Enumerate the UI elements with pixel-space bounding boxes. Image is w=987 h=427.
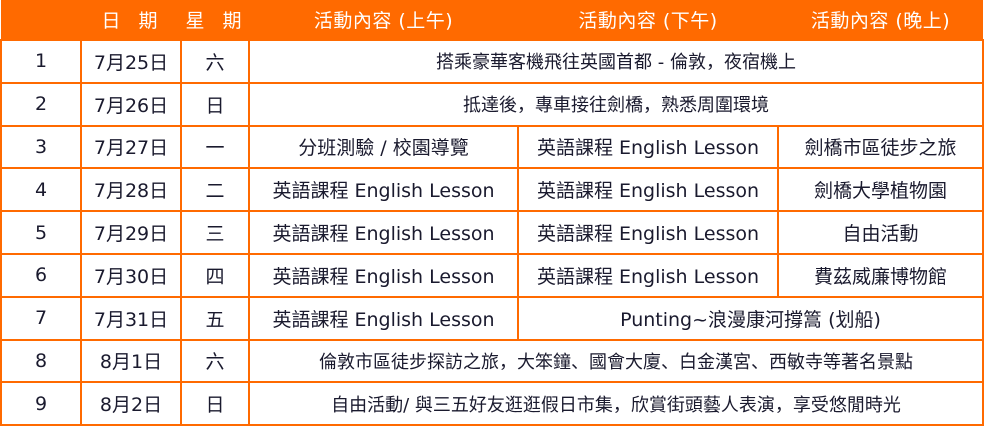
cell-activity-evening: 費茲威廉博物館: [778, 254, 983, 297]
column-header-evening: 活動內容 (晚上): [778, 0, 983, 40]
cell-row-number: 1: [1, 40, 81, 83]
cell-activity-full-day: 倫敦市區徒步探訪之旅，大笨鐘、國會大廈、白金漢宮、西敏寺等著名景點: [249, 340, 983, 383]
cell-activity-morning: 英語課程 English Lesson: [249, 168, 518, 211]
cell-weekday: 六: [181, 40, 249, 83]
cell-row-number: 4: [1, 168, 81, 211]
table-row: 37月27日一分班測驗 / 校園導覽英語課程 English Lesson劍橋市…: [1, 126, 983, 169]
table-header: 日 期 星 期 活動內容 (上午) 活動內容 (下午) 活動內容 (晚上): [1, 0, 983, 40]
column-header-afternoon: 活動內容 (下午): [518, 0, 778, 40]
cell-date: 7月25日: [81, 40, 181, 83]
cell-activity-evening: 劍橋市區徒步之旅: [778, 126, 983, 169]
cell-activity-afternoon: 英語課程 English Lesson: [518, 168, 778, 211]
column-header-weekday-label: 星 期: [182, 10, 247, 32]
cell-activity-afternoon-evening: Punting~浪漫康河撐篙 (划船): [518, 297, 983, 340]
column-header-weekday: 星 期: [181, 0, 249, 40]
table-body: 17月25日六搭乘豪華客機飛往英國首都 - 倫敦，夜宿機上27月26日日抵達後，…: [1, 40, 983, 425]
cell-activity-morning: 英語課程 English Lesson: [249, 297, 518, 340]
cell-row-number: 2: [1, 83, 81, 126]
column-header-number: [1, 0, 81, 40]
cell-activity-afternoon: 英語課程 English Lesson: [518, 211, 778, 254]
cell-weekday: 一: [181, 126, 249, 169]
cell-weekday: 四: [181, 254, 249, 297]
itinerary-table-container: 日 期 星 期 活動內容 (上午) 活動內容 (下午) 活動內容 (晚上) 17…: [0, 0, 987, 427]
header-row: 日 期 星 期 活動內容 (上午) 活動內容 (下午) 活動內容 (晚上): [1, 0, 983, 40]
cell-activity-afternoon: 英語課程 English Lesson: [518, 126, 778, 169]
cell-row-number: 3: [1, 126, 81, 169]
cell-activity-full-day: 搭乘豪華客機飛往英國首都 - 倫敦，夜宿機上: [249, 40, 983, 83]
column-header-morning: 活動內容 (上午): [249, 0, 518, 40]
cell-activity-morning: 英語課程 English Lesson: [249, 254, 518, 297]
cell-date: 7月29日: [81, 211, 181, 254]
cell-activity-morning: 分班測驗 / 校園導覽: [249, 126, 518, 169]
cell-row-number: 7: [1, 297, 81, 340]
cell-row-number: 9: [1, 382, 81, 425]
table-row: 98月2日日自由活動/ 與三五好友逛逛假日市集，欣賞街頭藝人表演，享受悠閒時光: [1, 382, 983, 425]
table-row: 17月25日六搭乘豪華客機飛往英國首都 - 倫敦，夜宿機上: [1, 40, 983, 83]
cell-row-number: 6: [1, 254, 81, 297]
cell-activity-evening: 劍橋大學植物園: [778, 168, 983, 211]
cell-row-number: 8: [1, 340, 81, 383]
table-row: 47月28日二英語課程 English Lesson英語課程 English L…: [1, 168, 983, 211]
cell-weekday: 日: [181, 382, 249, 425]
table-row: 77月31日五英語課程 English LessonPunting~浪漫康河撐篙…: [1, 297, 983, 340]
cell-date: 8月1日: [81, 340, 181, 383]
cell-weekday: 二: [181, 168, 249, 211]
table-row: 27月26日日抵達後，專車接往劍橋，熟悉周圍環境: [1, 83, 983, 126]
cell-weekday: 六: [181, 340, 249, 383]
cell-date: 7月31日: [81, 297, 181, 340]
cell-date: 7月27日: [81, 126, 181, 169]
cell-row-number: 5: [1, 211, 81, 254]
cell-weekday: 三: [181, 211, 249, 254]
cell-weekday: 日: [181, 83, 249, 126]
cell-activity-afternoon: 英語課程 English Lesson: [518, 254, 778, 297]
cell-activity-evening: 自由活動: [778, 211, 983, 254]
table-row: 67月30日四英語課程 English Lesson英語課程 English L…: [1, 254, 983, 297]
table-row: 57月29日三英語課程 English Lesson英語課程 English L…: [1, 211, 983, 254]
cell-date: 7月30日: [81, 254, 181, 297]
cell-activity-full-day: 自由活動/ 與三五好友逛逛假日市集，欣賞街頭藝人表演，享受悠閒時光: [249, 382, 983, 425]
table-row: 88月1日六倫敦市區徒步探訪之旅，大笨鐘、國會大廈、白金漢宮、西敏寺等著名景點: [1, 340, 983, 383]
cell-activity-full-day: 抵達後，專車接往劍橋，熟悉周圍環境: [249, 83, 983, 126]
cell-weekday: 五: [181, 297, 249, 340]
cell-date: 7月28日: [81, 168, 181, 211]
cell-activity-morning: 英語課程 English Lesson: [249, 211, 518, 254]
cell-date: 8月2日: [81, 382, 181, 425]
column-header-date-label: 日 期: [98, 10, 163, 32]
itinerary-table: 日 期 星 期 活動內容 (上午) 活動內容 (下午) 活動內容 (晚上) 17…: [0, 0, 984, 426]
cell-date: 7月26日: [81, 83, 181, 126]
column-header-date: 日 期: [81, 0, 181, 40]
